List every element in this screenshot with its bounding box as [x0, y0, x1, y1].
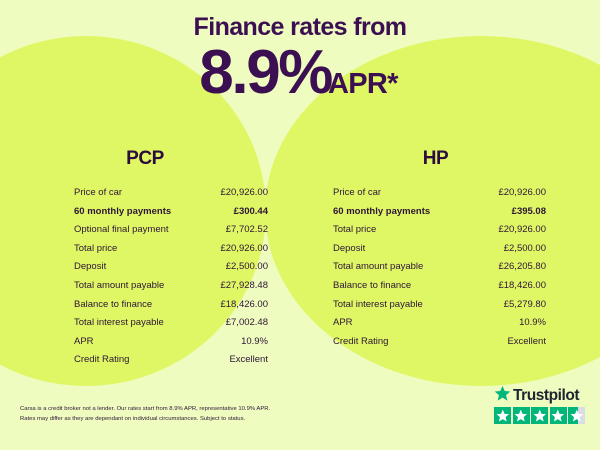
- row-value: £7,002.48: [226, 314, 268, 333]
- table-row: Total amount payable £27,928.48: [74, 277, 268, 296]
- row-label: Price of car: [74, 184, 122, 203]
- row-label: Total price: [74, 240, 117, 259]
- row-label: Total interest payable: [333, 296, 423, 315]
- table-row: Total amount payable £26,205.80: [333, 258, 546, 277]
- row-value: £2,500.00: [504, 240, 546, 259]
- rating-star-3: [531, 407, 548, 424]
- table-row: Deposit £2,500.00: [333, 240, 546, 259]
- table-row: Total interest payable £5,279.80: [333, 296, 546, 315]
- row-value: Excellent: [507, 333, 546, 352]
- row-value: 10.9%: [241, 333, 268, 352]
- trustpilot-wordmark: Trustpilot: [513, 388, 579, 404]
- row-label: Price of car: [333, 184, 381, 203]
- row-value: £18,426.00: [220, 296, 268, 315]
- column-title-hp: HP: [329, 148, 542, 170]
- finance-rates-poster: Finance rates from 8.9%APR* PCP Price of…: [0, 0, 600, 450]
- table-row: Credit Rating Excellent: [74, 351, 268, 370]
- table-row: Deposit £2,500.00: [74, 258, 268, 277]
- row-value: £2,500.00: [226, 258, 268, 277]
- row-value: £20,926.00: [220, 184, 268, 203]
- table-row: Optional final payment £7,702.52: [74, 221, 268, 240]
- row-value: £20,926.00: [498, 221, 546, 240]
- rating-star-4: [550, 407, 567, 424]
- row-label: Total interest payable: [74, 314, 164, 333]
- row-value: £20,926.00: [220, 240, 268, 259]
- row-value: Excellent: [229, 351, 268, 370]
- table-row: 60 monthly payments £300.44: [74, 203, 268, 222]
- table-row: Price of car £20,926.00: [333, 184, 546, 203]
- row-label: 60 monthly payments: [333, 203, 430, 222]
- apr-rate-value: 8.9%: [199, 38, 331, 107]
- row-label: Credit Rating: [74, 351, 129, 370]
- page-title: Finance rates from: [0, 0, 600, 40]
- row-value: £395.08: [512, 203, 546, 222]
- finance-comparison: PCP Price of car £20,926.00 60 monthly p…: [0, 148, 600, 370]
- finance-column-hp: HP Price of car £20,926.00 60 monthly pa…: [290, 148, 600, 370]
- row-label: Total amount payable: [333, 258, 423, 277]
- row-value: £7,702.52: [226, 221, 268, 240]
- row-value: £27,928.48: [220, 277, 268, 296]
- row-value: £18,426.00: [498, 277, 546, 296]
- legal-disclaimer: Carsa is a credit broker not a lender. O…: [20, 404, 350, 425]
- trustpilot-star-rating: [494, 407, 585, 424]
- table-row: Price of car £20,926.00: [74, 184, 268, 203]
- table-row: Credit Rating Excellent: [333, 333, 546, 352]
- column-title-pcp: PCP: [48, 148, 242, 170]
- row-label: Balance to finance: [74, 296, 152, 315]
- table-row: Total price £20,926.00: [74, 240, 268, 259]
- pcp-rows: Price of car £20,926.00 60 monthly payme…: [74, 184, 268, 370]
- row-label: Deposit: [333, 240, 365, 259]
- apr-rate-unit: APR*: [328, 68, 398, 100]
- row-label: Deposit: [74, 258, 106, 277]
- row-label: Optional final payment: [74, 221, 169, 240]
- row-label: Total price: [333, 221, 376, 240]
- row-label: APR: [333, 314, 353, 333]
- table-row: Balance to finance £18,426.00: [333, 277, 546, 296]
- row-value: 10.9%: [519, 314, 546, 333]
- row-value: £26,205.80: [498, 258, 546, 277]
- disclaimer-line-2: Rates may differ as they are dependant o…: [20, 414, 350, 424]
- hp-rows: Price of car £20,926.00 60 monthly payme…: [333, 184, 546, 351]
- table-row: Balance to finance £18,426.00: [74, 296, 268, 315]
- finance-column-pcp: PCP Price of car £20,926.00 60 monthly p…: [0, 148, 290, 370]
- poster-header: Finance rates from 8.9%APR*: [0, 0, 600, 104]
- row-value: £300.44: [234, 203, 268, 222]
- table-row: APR 10.9%: [74, 333, 268, 352]
- headline-rate: 8.9%APR*: [0, 40, 600, 104]
- row-label: 60 monthly payments: [74, 203, 171, 222]
- star-icon: [494, 385, 511, 407]
- trustpilot-badge[interactable]: Trustpilot: [494, 387, 585, 424]
- table-row: APR 10.9%: [333, 314, 546, 333]
- row-label: Credit Rating: [333, 333, 388, 352]
- table-row: Total interest payable £7,002.48: [74, 314, 268, 333]
- row-value: £20,926.00: [498, 184, 546, 203]
- disclaimer-line-1: Carsa is a credit broker not a lender. O…: [20, 404, 350, 414]
- table-row: 60 monthly payments £395.08: [333, 203, 546, 222]
- trustpilot-brand: Trustpilot: [494, 387, 585, 404]
- row-label: APR: [74, 333, 94, 352]
- table-row: Total price £20,926.00: [333, 221, 546, 240]
- rating-star-5-partial: [568, 407, 585, 424]
- row-value: £5,279.80: [504, 296, 546, 315]
- rating-star-2: [513, 407, 530, 424]
- row-label: Total amount payable: [74, 277, 164, 296]
- rating-star-1: [494, 407, 511, 424]
- row-label: Balance to finance: [333, 277, 411, 296]
